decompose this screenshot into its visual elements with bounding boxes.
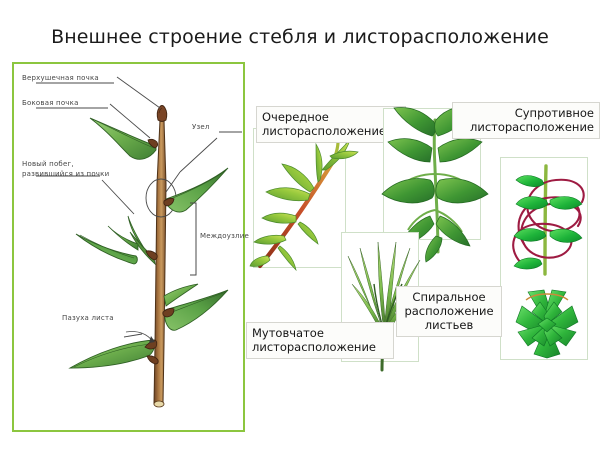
caption-spiral: Спиральное расположение листьев (396, 286, 502, 337)
label-lateral-bud: Боковая почка (22, 99, 79, 108)
label-new-shoot-line1: Новый побег, (22, 160, 74, 169)
caption-whorled: Мутовчатое листорасположение (246, 322, 394, 359)
caption-opposite-line2: листорасположение (458, 120, 594, 134)
slide-canvas: Внешнее строение стебля и листорасположе… (0, 0, 600, 450)
caption-spiral-line1: Спиральное (402, 290, 496, 304)
caption-whorled-line1: Мутовчатое (252, 326, 388, 340)
label-apical-bud: Верхушечная почка (22, 74, 99, 83)
caption-opposite-line1: Супротивное (458, 106, 594, 120)
label-internode: Междоузлие (200, 232, 249, 241)
caption-whorled-line2: листорасположение (252, 340, 388, 354)
stem-structure-panel: Верхушечная почка Боковая почка Узел Нов… (12, 62, 245, 432)
caption-spiral-line3: листьев (402, 318, 496, 332)
caption-opposite: Супротивное листорасположение (452, 102, 600, 139)
diagram-rosette-top-view (506, 288, 588, 360)
caption-spiral-line2: расположение (402, 304, 496, 318)
label-new-shoot-line2: развившийся из почки (22, 170, 109, 179)
page-title: Внешнее строение стебля и листорасположе… (0, 26, 600, 48)
diagram-spiral-stem (498, 156, 592, 278)
label-leaf-axil: Пазуха листа (62, 314, 114, 323)
label-node: Узел (192, 123, 210, 132)
stem-illustration (14, 64, 243, 430)
